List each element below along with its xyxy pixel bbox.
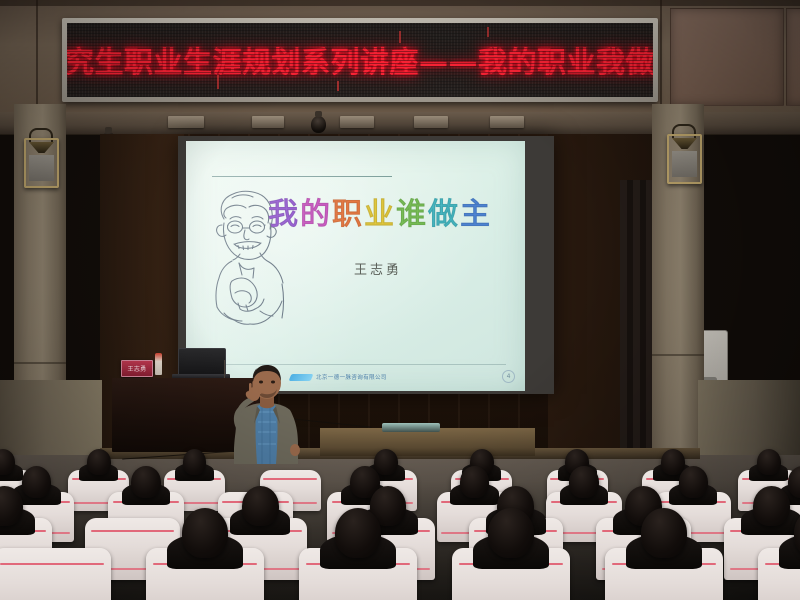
audience-member-head: [753, 486, 790, 526]
presenter-figure: [224, 362, 310, 464]
speaker-grille-left: [29, 155, 54, 181]
projection-screen: 我的职业谁做主 王志勇 北京一德一脉咨询有限公司 4: [186, 141, 525, 391]
auditorium-seat: [0, 548, 111, 600]
slide-title-char-5: 做: [428, 197, 460, 232]
desk-device: [382, 423, 440, 432]
audience-member-head: [22, 466, 51, 498]
recessed-light-1: [168, 116, 204, 128]
speaker-grille-right: [672, 151, 697, 177]
wall-seam-vert: [660, 0, 662, 112]
recessed-light-4: [414, 116, 448, 128]
audience-member-head: [374, 449, 398, 475]
led-banner-text: 研究生职业生涯规划系列讲座——我的职业我做主: [67, 39, 653, 81]
slide-title-char-0: 我: [268, 197, 300, 232]
speaker-horn-right: [672, 138, 697, 149]
water-bottle: [155, 353, 162, 375]
audience-member-head: [183, 449, 207, 475]
wall-seam-left: [0, 0, 800, 6]
slide-title-char-4: 谁: [396, 197, 428, 232]
slide-title-char-1: 的: [300, 197, 332, 232]
recessed-light-5: [490, 116, 524, 128]
speaker-horn-left: [29, 142, 54, 153]
recessed-light-3: [340, 116, 374, 128]
slide-divider-top: [212, 176, 392, 177]
slide-footer-company: 北京一德一脉咨询有限公司: [316, 373, 387, 381]
audience-member-head: [641, 508, 687, 558]
column-right-seam: [652, 354, 704, 356]
led-speck-3: [487, 27, 489, 37]
lecture-hall-photo: 研究生职业生涯规划系列讲座——我的职业我做主: [0, 0, 800, 600]
slide-page-number: 4: [502, 370, 515, 383]
wall-panel-1: [670, 8, 784, 106]
wall-seam-vert-2: [36, 0, 38, 112]
led-panel: 研究生职业生涯规划系列讲座——我的职业我做主: [67, 23, 653, 97]
wall-speaker-left: [24, 138, 59, 188]
audience-member-head: [569, 466, 598, 498]
wall-panel-2: [786, 8, 800, 106]
name-placard: 王志勇: [121, 360, 153, 377]
audience-member-head: [679, 466, 708, 498]
audience-member-head: [242, 486, 279, 526]
audience-member-head: [488, 508, 534, 558]
slide-title-char-2: 职: [332, 197, 364, 232]
slide-author: 王志勇: [354, 259, 402, 278]
column-left-seam: [14, 362, 66, 364]
audience-member-head: [460, 466, 489, 498]
led-speck-4: [337, 81, 339, 91]
wall-speaker-right: [667, 134, 702, 184]
recessed-light-2: [252, 116, 284, 128]
audience-member-head: [131, 466, 160, 498]
led-banner: 研究生职业生涯规划系列讲座——我的职业我做主: [62, 18, 658, 102]
stage-desk: [320, 428, 535, 456]
slide-title-char-6: 主: [460, 197, 492, 232]
led-speck-2: [399, 31, 401, 43]
slide-title-char-3: 业: [364, 197, 396, 232]
audience-member-head: [182, 508, 228, 558]
audience-member-head: [87, 449, 111, 475]
led-speck-1: [217, 75, 219, 89]
slide-title: 我的职业谁做主: [268, 189, 492, 233]
dome-camera-icon: [311, 116, 326, 133]
name-placard-text: 王志勇: [128, 364, 147, 373]
audience-member-head: [335, 508, 381, 558]
audience-member-head: [757, 449, 781, 475]
